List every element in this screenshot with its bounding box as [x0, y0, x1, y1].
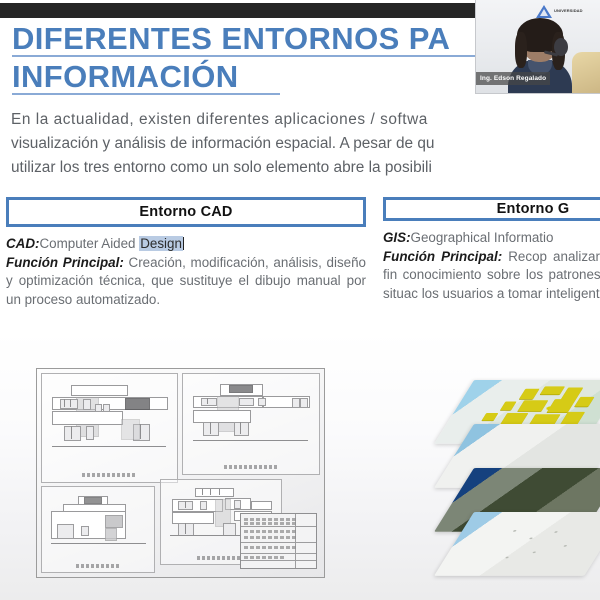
gis-header-box: Entorno G	[383, 197, 600, 221]
cad-elevation-panel-3	[41, 486, 155, 573]
participant-name-label: Ing. Edson Regalado	[480, 75, 546, 82]
gis-acronym-expansion: Geographical Informatio	[411, 230, 554, 245]
cad-selected-text[interactable]: Design	[139, 236, 183, 251]
panel-caption	[76, 564, 121, 568]
screenshare-topbar	[0, 3, 494, 18]
cad-body-text[interactable]: CAD:Computer Aided Design Función Princi…	[6, 235, 366, 309]
architectural-elevation-sheet	[36, 368, 325, 578]
gis-layer-stack-illustration	[452, 372, 600, 592]
text-cursor-caret	[183, 237, 184, 250]
drawing-title-block	[240, 513, 317, 569]
slide-paragraph-line-1: En la actualidad, existen diferentes apl…	[11, 108, 600, 132]
cad-acronym-label: CAD:	[6, 236, 39, 251]
participant-name-badge: Ing. Edson Regalado	[476, 72, 550, 85]
cad-sheet-grid	[41, 373, 320, 573]
gis-acronym-label: GIS:	[383, 230, 411, 245]
elevation-drawing	[50, 385, 169, 458]
screenshare-stage: DIFERENTES ENTORNOS PA INFORMACIÓN En la…	[0, 0, 600, 600]
cad-header-label: Entorno CAD	[139, 204, 232, 220]
cad-elevation-panel-1	[41, 373, 178, 483]
participant-video-overlay[interactable]: UNIVERSIDAD Ing. Edson Regalado	[475, 0, 600, 94]
gis-function-label: Función Principal:	[383, 249, 502, 264]
cad-elevation-panel-2	[182, 373, 320, 475]
university-triangle-logo-icon: UNIVERSIDAD	[536, 5, 598, 18]
background-object	[572, 52, 600, 94]
gis-header-label: Entorno G	[497, 201, 570, 217]
logo-text: UNIVERSIDAD	[554, 9, 598, 14]
cad-acronym-expansion-pre: Computer Aided	[39, 236, 139, 251]
panel-caption	[82, 473, 136, 477]
slide-paragraph: En la actualidad, existen diferentes apl…	[11, 108, 600, 180]
panel-caption	[197, 556, 245, 560]
cad-header-box: Entorno CAD	[6, 197, 366, 227]
elevation-drawing	[49, 496, 148, 554]
gis-column: Entorno G GIS:Geographical Informatio Fu…	[383, 197, 600, 303]
slide-paragraph-line-2: visualización y análisis de información …	[11, 132, 600, 156]
cad-function-label: Función Principal:	[6, 255, 124, 270]
slide-paragraph-line-3: utilizar los tres entorno como un solo e…	[11, 156, 600, 180]
elevation-drawing	[191, 384, 311, 452]
cad-column: Entorno CAD CAD:Computer Aided Design Fu…	[6, 197, 366, 309]
panel-caption	[224, 465, 278, 469]
gis-body-text[interactable]: GIS:Geographical Informatio Función Prin…	[383, 229, 600, 303]
